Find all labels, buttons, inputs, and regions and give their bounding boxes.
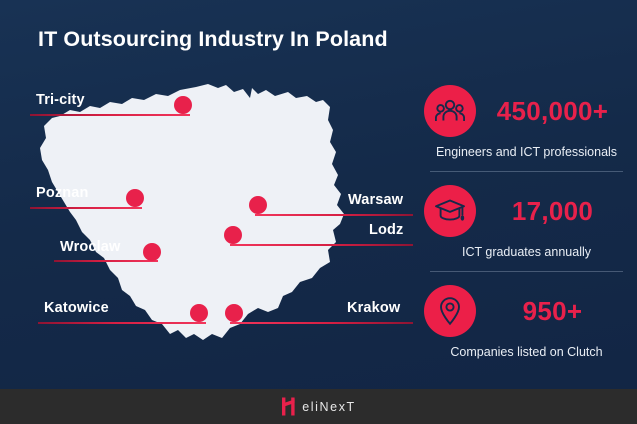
city-leader-line-katowice xyxy=(38,322,206,324)
stat-companies: 950+ Companies listed on Clutch xyxy=(424,282,629,359)
city-marker-poznan[interactable] xyxy=(126,189,144,207)
brand-logo[interactable]: eliNexT xyxy=(281,397,356,416)
city-marker-wroclaw[interactable] xyxy=(143,243,161,261)
poland-map-shape xyxy=(0,72,420,372)
stat-graduates: 17,000 ICT graduates annually xyxy=(424,182,629,259)
stat-caption-engineers: Engineers and ICT professionals xyxy=(424,145,629,159)
brand-logo-text: eliNexT xyxy=(302,400,356,414)
city-marker-lodz[interactable] xyxy=(224,226,242,244)
city-label-wroclaw: Wroclaw xyxy=(60,239,120,255)
city-marker-krakow[interactable] xyxy=(225,304,243,322)
map-pin-icon xyxy=(424,285,476,337)
stat-value-companies: 950+ xyxy=(476,296,629,327)
stats-divider-1 xyxy=(430,171,623,172)
city-leader-line-lodz xyxy=(230,244,413,246)
stat-value-graduates: 17,000 xyxy=(476,196,629,227)
infographic-poster: IT Outsourcing Industry In Poland Tri-ci… xyxy=(0,0,637,424)
city-label-warsaw: Warsaw xyxy=(348,192,403,208)
graduation-cap-icon xyxy=(424,185,476,237)
city-leader-line-warsaw xyxy=(255,214,413,216)
page-title: IT Outsourcing Industry In Poland xyxy=(38,27,388,52)
city-leader-line-tri-city xyxy=(30,114,190,116)
elinext-n-mark xyxy=(281,397,296,416)
city-label-katowice: Katowice xyxy=(44,300,109,316)
city-leader-line-krakow xyxy=(230,322,413,324)
city-leader-line-poznan xyxy=(30,207,142,209)
city-label-lodz: Lodz xyxy=(369,222,403,238)
city-marker-tri-city[interactable] xyxy=(174,96,192,114)
city-label-tri-city: Tri-city xyxy=(36,92,85,108)
city-marker-warsaw[interactable] xyxy=(249,196,267,214)
stat-caption-companies: Companies listed on Clutch xyxy=(424,345,629,359)
stats-divider-2 xyxy=(430,271,623,272)
city-leader-line-wroclaw xyxy=(54,260,158,262)
city-label-poznan: Poznan xyxy=(36,185,88,201)
stat-value-engineers: 450,000+ xyxy=(476,96,629,127)
footer-bar: eliNexT xyxy=(0,389,637,424)
stat-caption-graduates: ICT graduates annually xyxy=(424,245,629,259)
stat-engineers: 450,000+ Engineers and ICT professionals xyxy=(424,82,629,159)
poland-map-container: Tri-city Poznan Wroclaw Katowice Warsaw … xyxy=(0,72,420,372)
city-marker-katowice[interactable] xyxy=(190,304,208,322)
people-icon xyxy=(424,85,476,137)
stats-panel: 450,000+ Engineers and ICT professionals… xyxy=(424,82,629,359)
city-label-krakow: Krakow xyxy=(347,300,400,316)
